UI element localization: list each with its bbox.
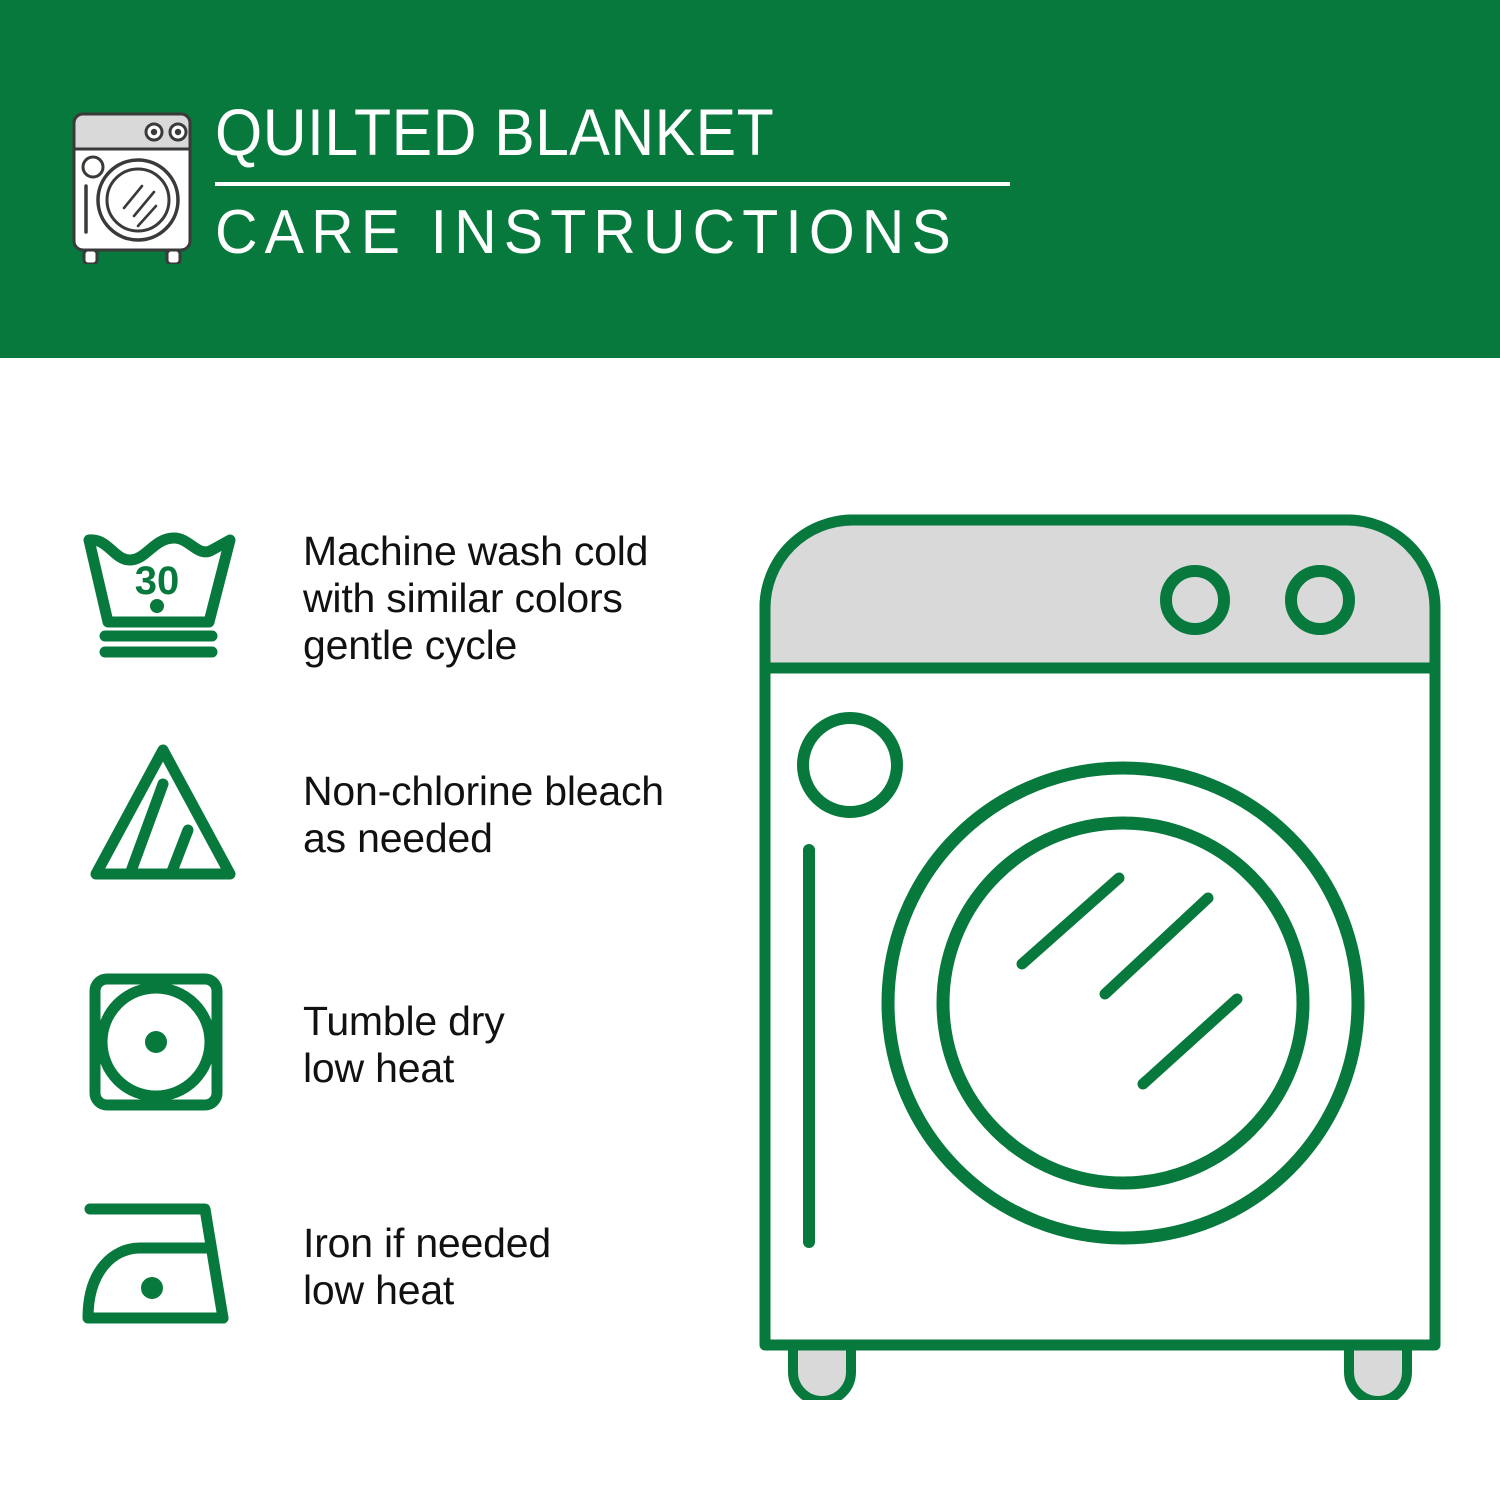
machine-wash-tub-icon: 30 (78, 522, 248, 664)
page-title: QUILTED BLANKET (215, 96, 979, 168)
page-subtitle: CARE INSTRUCTIONS (215, 198, 1004, 268)
list-item: 30 Machine wash cold with similar colors… (0, 510, 740, 690)
list-item: Non-chlorine bleach as needed (0, 730, 740, 900)
knob-left (1166, 571, 1224, 629)
list-item-label: Machine wash cold with similar colors ge… (303, 528, 723, 669)
header: QUILTED BLANKET CARE INSTRUCTIONS (0, 0, 1500, 358)
detergent-dispenser (803, 718, 897, 812)
list-item-label: Non-chlorine bleach as needed (303, 768, 723, 862)
list-item: Iron if needed low heat (0, 1180, 740, 1350)
svg-text:30: 30 (135, 559, 180, 603)
header-text-block: QUILTED BLANKET CARE INSTRUCTIONS (215, 96, 1045, 268)
tumble-dry-icon (78, 968, 248, 1116)
list-item-label: Tumble dry low heat (303, 998, 723, 1092)
instruction-list: 30 Machine wash cold with similar colors… (0, 358, 740, 1500)
title-divider (215, 182, 1010, 186)
iron-icon (78, 1192, 248, 1337)
list-item-label: Iron if needed low heat (303, 1220, 723, 1314)
washing-machine-icon (62, 104, 202, 264)
list-item: Tumble dry low heat (0, 960, 740, 1130)
non-chlorine-bleach-triangle-icon (78, 738, 248, 888)
knob-right (1291, 571, 1349, 629)
front-load-washing-machine-illustration (745, 500, 1455, 1400)
